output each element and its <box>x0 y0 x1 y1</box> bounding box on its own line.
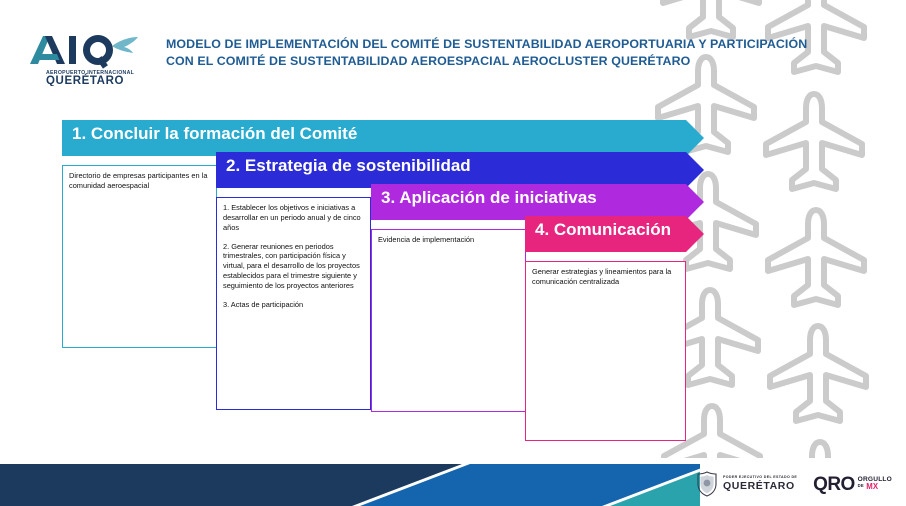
slide-canvas: AEROPUERTO INTERNACIONAL QUERÉTARO MODEL… <box>0 0 906 506</box>
stage-2-title: 2. Estrategia de sostenibilidad <box>226 156 471 176</box>
stage-4-arrow-tip <box>686 216 722 252</box>
footer-logos: PODER EJECUTIVO DEL ESTADO DE QUERÉTARO … <box>696 471 892 497</box>
stage-2-arrow-tip <box>686 152 722 188</box>
footer-band: PODER EJECUTIVO DEL ESTADO DE QUERÉTARO … <box>0 458 906 506</box>
stage-1-arrow: 1. Concluir la formación del Comité <box>62 120 722 156</box>
page-title-line-2: CON EL COMITÉ DE SUSTENTABILIDAD AEROESP… <box>166 53 846 70</box>
stage-4-title: 4. Comunicación <box>535 220 671 240</box>
aiq-logo: AEROPUERTO INTERNACIONAL QUERÉTARO <box>26 30 144 86</box>
stage-1-body: Directorio de empresas participantes en … <box>62 165 217 348</box>
stage-2-body-text-2: 2. Generar reuniones en periodos trimest… <box>223 242 364 291</box>
qro-wordmark: QRO <box>813 475 854 494</box>
stage-1-title: 1. Concluir la formación del Comité <box>72 124 357 144</box>
stage-4-body-text-1: Generar estrategias y lineamientos para … <box>532 267 679 287</box>
stage-2-body-text-3: 3. Actas de participación <box>223 300 364 310</box>
stage-1-body-text-1: Directorio de empresas participantes en … <box>69 171 210 191</box>
stage-1-arrow-tip <box>686 120 722 156</box>
stage-2-body: 1. Establecer los objetivos e iniciativa… <box>216 197 371 410</box>
stage-3-arrow-tip <box>686 184 722 220</box>
queretaro-shield-icon <box>696 471 718 497</box>
page-title-line-1: MODELO DE IMPLEMENTACIÓN DEL COMITÉ DE S… <box>166 36 846 53</box>
logo-subtitle-big: QUERÉTARO <box>46 74 124 86</box>
stage-4-body: Generar estrategias y lineamientos para … <box>525 261 686 441</box>
qro-de-text: DE <box>858 483 864 488</box>
stage-2-arrow: 2. Estrategia de sostenibilidad <box>216 152 722 188</box>
stage-3-body: Evidencia de implementación <box>371 229 526 412</box>
stage-3-body-text-1: Evidencia de implementación <box>378 235 519 245</box>
queretaro-government-logo: PODER EJECUTIVO DEL ESTADO DE QUERÉTARO <box>696 471 797 497</box>
stage-4-arrow: 4. Comunicación <box>525 216 722 252</box>
gov-logo-big-text: QUERÉTARO <box>723 481 797 492</box>
stage-2-body-text-1: 1. Establecer los objetivos e iniciativa… <box>223 203 364 233</box>
qro-orgullo-mx-logo: QRO ORGULLO DE MX <box>813 475 892 494</box>
stage-3-arrow: 3. Aplicación de iniciativas <box>371 184 722 220</box>
page-title: MODELO DE IMPLEMENTACIÓN DEL COMITÉ DE S… <box>166 36 846 69</box>
qro-mx-text: MX <box>866 482 878 491</box>
stage-3-title: 3. Aplicación de iniciativas <box>381 188 597 208</box>
